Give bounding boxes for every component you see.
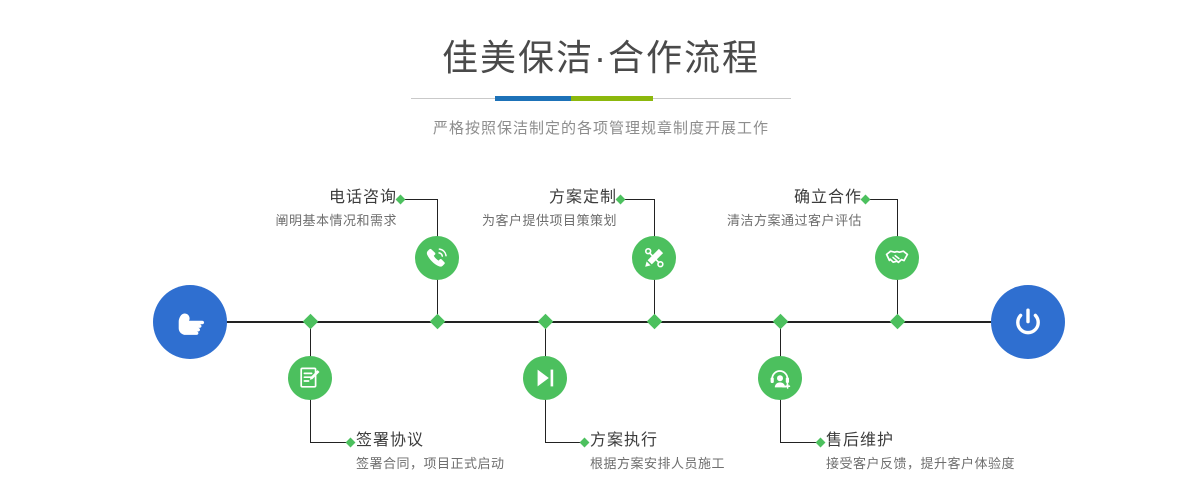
- step-icon-6: [758, 356, 802, 400]
- step-label-5: 确立合作 清洁方案通过客户评估: [700, 188, 862, 231]
- connector-horizontal-4: [545, 442, 583, 443]
- power-icon: [1008, 302, 1048, 342]
- step-title-2: 签署协议: [356, 431, 505, 451]
- step-icon-1: [415, 236, 459, 280]
- pencil-ruler-icon: [641, 245, 667, 271]
- flow-diagram-page: 佳美保洁·合作流程 严格按照保洁制定的各项管理规章制度开展工作: [0, 0, 1202, 502]
- step-title-1: 电话咨询: [247, 188, 397, 208]
- connector-horizontal-6: [780, 442, 819, 443]
- step-icon-4: [523, 356, 567, 400]
- label-dot-3: [616, 195, 626, 205]
- step-desc-3: 为客户提供项目策策划: [455, 211, 617, 231]
- step-desc-2: 签署合同，项目正式启动: [356, 454, 505, 474]
- connector-horizontal-2: [310, 442, 349, 443]
- step-icon-5: [875, 236, 919, 280]
- label-dot-1: [396, 195, 406, 205]
- document-pen-icon: [297, 365, 323, 391]
- step-desc-6: 接受客户反馈，提升客户体验度: [826, 454, 1015, 474]
- step-icon-2: [288, 356, 332, 400]
- headset-support-icon: [767, 365, 793, 391]
- label-dot-5: [861, 195, 871, 205]
- step-desc-5: 清洁方案通过客户评估: [700, 211, 862, 231]
- label-dot-4: [580, 438, 590, 448]
- timeline-marker-1: [430, 314, 446, 330]
- step-desc-1: 阐明基本情况和需求: [247, 211, 397, 231]
- timeline-end-node: [991, 285, 1065, 359]
- connector-horizontal-1: [401, 199, 438, 200]
- step-title-5: 确立合作: [700, 188, 862, 208]
- timeline-marker-2: [303, 314, 319, 330]
- step-title-3: 方案定制: [455, 188, 617, 208]
- process-timeline: 电话咨询 阐明基本情况和需求 签署协议 签署合同，项目正式启动: [0, 0, 1202, 502]
- timeline-marker-5: [890, 314, 906, 330]
- label-dot-6: [816, 438, 826, 448]
- timeline-marker-3: [647, 314, 663, 330]
- step-label-6: 售后维护 接受客户反馈，提升客户体验度: [826, 431, 1015, 474]
- step-icon-3: [632, 236, 676, 280]
- step-title-4: 方案执行: [590, 431, 725, 451]
- step-label-3: 方案定制 为客户提供项目策策划: [455, 188, 617, 231]
- step-title-6: 售后维护: [826, 431, 1015, 451]
- play-execute-icon: [532, 365, 558, 391]
- label-dot-2: [346, 438, 356, 448]
- phone-call-icon: [424, 245, 450, 271]
- timeline-marker-6: [773, 314, 789, 330]
- step-label-1: 电话咨询 阐明基本情况和需求: [247, 188, 397, 231]
- handshake-icon: [884, 245, 910, 271]
- step-label-2: 签署协议 签署合同，项目正式启动: [356, 431, 505, 474]
- step-label-4: 方案执行 根据方案安排人员施工: [590, 431, 725, 474]
- timeline-marker-4: [538, 314, 554, 330]
- step-desc-4: 根据方案安排人员施工: [590, 454, 725, 474]
- timeline-start-node: [153, 285, 227, 359]
- connector-horizontal-3: [621, 199, 655, 200]
- thumbs-up-icon: [170, 302, 210, 342]
